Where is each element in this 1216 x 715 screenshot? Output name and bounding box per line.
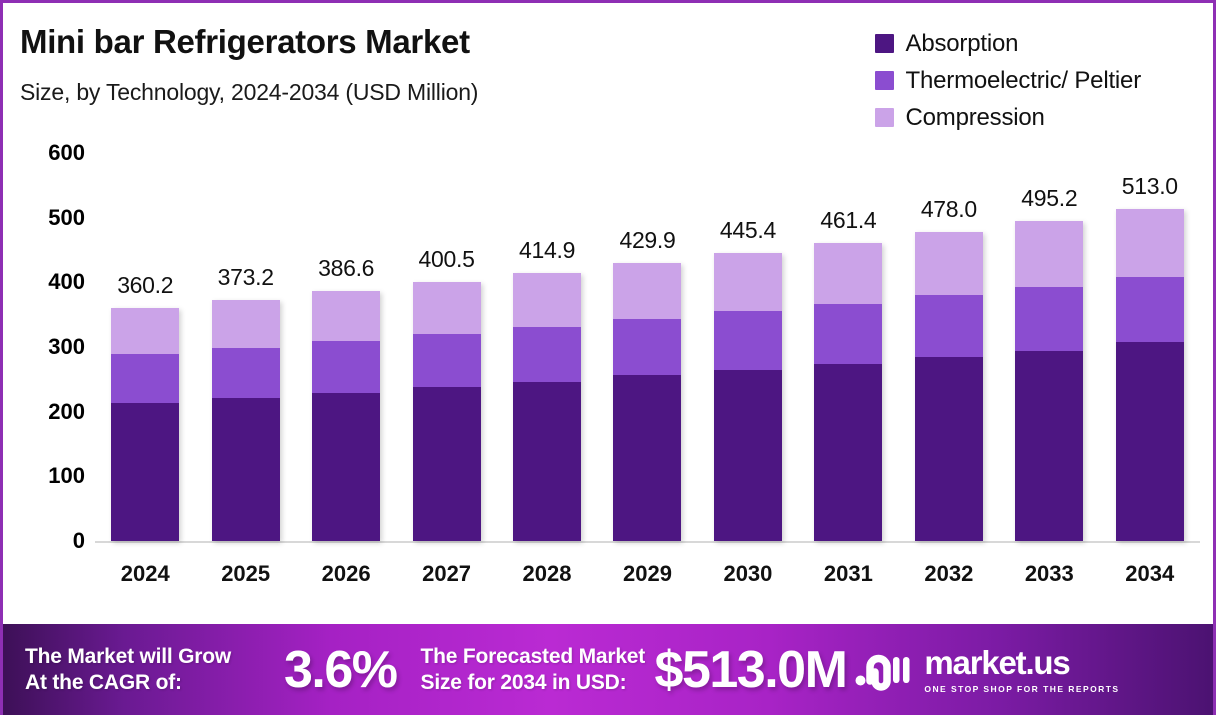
bar-segment-thermoelectric-peltier[interactable] xyxy=(714,311,782,370)
x-axis-tick-label: 2024 xyxy=(111,561,179,587)
bar-total-label: 386.6 xyxy=(318,255,374,282)
y-axis-tick-label: 400 xyxy=(48,269,85,295)
bar-total-label: 360.2 xyxy=(117,272,173,299)
x-axis-tick-label: 2032 xyxy=(915,561,983,587)
bar-total-label: 478.0 xyxy=(921,196,977,223)
bar-segment-absorption[interactable] xyxy=(513,382,581,541)
x-axis-tick-label: 2033 xyxy=(1015,561,1083,587)
bar-total-label: 513.0 xyxy=(1122,173,1178,200)
bar-segment-compression[interactable] xyxy=(915,232,983,295)
chart-legend: AbsorptionThermoelectric/ PeltierCompres… xyxy=(875,30,1141,141)
x-axis: 2024202520262027202820292030203120322033… xyxy=(95,551,1200,596)
bar-segment-compression[interactable] xyxy=(111,308,179,354)
x-axis-tick-label: 2030 xyxy=(714,561,782,587)
bar-segment-compression[interactable] xyxy=(312,291,380,341)
infographic-poster: Mini bar Refrigerators Market Size, by T… xyxy=(0,0,1216,715)
bar-group[interactable]: 386.6 xyxy=(312,153,380,541)
y-axis-tick-label: 300 xyxy=(48,334,85,360)
x-axis-tick-label: 2026 xyxy=(312,561,380,587)
stacked-bar[interactable] xyxy=(714,253,782,541)
forecast-label-line1: The Forecasted Market xyxy=(421,644,649,670)
stacked-bar[interactable] xyxy=(814,243,882,541)
bar-segment-thermoelectric-peltier[interactable] xyxy=(413,334,481,386)
bar-group[interactable]: 400.5 xyxy=(413,153,481,541)
bar-segment-thermoelectric-peltier[interactable] xyxy=(212,348,280,398)
legend-item-label: Compression xyxy=(906,104,1045,132)
legend-item[interactable]: Thermoelectric/ Peltier xyxy=(875,67,1141,94)
forecast-value: $513.0M xyxy=(655,640,847,700)
bar-segment-absorption[interactable] xyxy=(212,398,280,541)
brand-text: market.us ONE STOP SHOP FOR THE REPORTS xyxy=(924,646,1119,694)
legend-swatch-icon xyxy=(875,108,894,127)
x-axis-tick-label: 2029 xyxy=(613,561,681,587)
stacked-bar[interactable] xyxy=(312,291,380,541)
page-title: Mini bar Refrigerators Market xyxy=(20,23,470,61)
bar-segment-absorption[interactable] xyxy=(111,403,179,541)
stacked-bar[interactable] xyxy=(212,300,280,541)
bar-segment-thermoelectric-peltier[interactable] xyxy=(814,304,882,365)
bar-group[interactable]: 373.2 xyxy=(212,153,280,541)
page-subtitle: Size, by Technology, 2024-2034 (USD Mill… xyxy=(20,79,478,106)
y-axis: 6005004003002001000 xyxy=(3,153,95,541)
brand-tagline: ONE STOP SHOP FOR THE REPORTS xyxy=(924,684,1119,694)
brand-name: market.us xyxy=(924,646,1119,679)
cagr-label-line1: The Market will Grow xyxy=(25,644,280,670)
bar-segment-absorption[interactable] xyxy=(714,370,782,541)
bar-total-label: 400.5 xyxy=(419,246,475,273)
bar-segment-thermoelectric-peltier[interactable] xyxy=(513,327,581,381)
bar-total-label: 373.2 xyxy=(218,264,274,291)
chart-plot-area: 6005004003002001000 360.2373.2386.6400.5… xyxy=(3,153,1216,608)
y-axis-tick-label: 600 xyxy=(48,140,85,166)
bar-total-label: 414.9 xyxy=(519,237,575,264)
bar-segment-thermoelectric-peltier[interactable] xyxy=(915,295,983,357)
stacked-bar[interactable] xyxy=(111,308,179,541)
bar-group[interactable]: 360.2 xyxy=(111,153,179,541)
bar-total-label: 445.4 xyxy=(720,217,776,244)
x-axis-line xyxy=(95,541,1200,543)
stacked-bar[interactable] xyxy=(413,282,481,541)
bar-segment-thermoelectric-peltier[interactable] xyxy=(1116,277,1184,343)
bar-segment-compression[interactable] xyxy=(1116,209,1184,276)
x-axis-tick-label: 2031 xyxy=(814,561,882,587)
y-axis-tick-label: 500 xyxy=(48,205,85,231)
x-axis-tick-label: 2028 xyxy=(513,561,581,587)
x-axis-tick-label: 2034 xyxy=(1116,561,1184,587)
legend-item[interactable]: Compression xyxy=(875,104,1141,131)
bar-segment-absorption[interactable] xyxy=(312,393,380,541)
bar-segment-absorption[interactable] xyxy=(1015,351,1083,541)
bar-segment-absorption[interactable] xyxy=(413,387,481,541)
brand-logo: market.us ONE STOP SHOP FOR THE REPORTS xyxy=(854,646,1119,694)
x-axis-tick-label: 2025 xyxy=(212,561,280,587)
legend-item-label: Absorption xyxy=(906,30,1019,58)
x-axis-tick-label: 2027 xyxy=(413,561,481,587)
stacked-bar[interactable] xyxy=(1116,209,1184,541)
bar-segment-thermoelectric-peltier[interactable] xyxy=(613,319,681,376)
bar-segment-thermoelectric-peltier[interactable] xyxy=(111,354,179,403)
bar-segment-absorption[interactable] xyxy=(915,357,983,541)
y-axis-tick-label: 200 xyxy=(48,399,85,425)
stacked-bar[interactable] xyxy=(513,273,581,541)
y-axis-tick-label: 0 xyxy=(73,528,85,554)
bar-segment-thermoelectric-peltier[interactable] xyxy=(312,341,380,393)
legend-item[interactable]: Absorption xyxy=(875,30,1141,57)
bar-segment-compression[interactable] xyxy=(1015,221,1083,287)
bar-group[interactable]: 513.0 xyxy=(1116,153,1184,541)
bar-segment-absorption[interactable] xyxy=(1116,342,1184,541)
cagr-label: The Market will Grow At the CAGR of: xyxy=(25,644,280,695)
bar-group[interactable]: 461.4 xyxy=(814,153,882,541)
forecast-label-line2: Size for 2034 in USD: xyxy=(421,670,649,696)
bar-group[interactable]: 495.2 xyxy=(1015,153,1083,541)
bar-segment-thermoelectric-peltier[interactable] xyxy=(1015,287,1083,351)
market-us-logo-icon xyxy=(854,647,910,693)
forecast-label: The Forecasted Market Size for 2034 in U… xyxy=(421,644,649,695)
stacked-bar[interactable] xyxy=(1015,221,1083,541)
cagr-label-line2: At the CAGR of: xyxy=(25,670,280,696)
footer-banner: The Market will Grow At the CAGR of: 3.6… xyxy=(3,624,1216,715)
stacked-bar[interactable] xyxy=(915,232,983,541)
bar-total-label: 461.4 xyxy=(820,207,876,234)
bar-segment-absorption[interactable] xyxy=(814,364,882,541)
y-axis-tick-label: 100 xyxy=(48,463,85,489)
bar-group[interactable]: 478.0 xyxy=(915,153,983,541)
bar-group[interactable]: 445.4 xyxy=(714,153,782,541)
bar-group[interactable]: 414.9 xyxy=(513,153,581,541)
bar-segment-compression[interactable] xyxy=(413,282,481,334)
bar-segment-compression[interactable] xyxy=(513,273,581,328)
bar-group[interactable]: 429.9 xyxy=(613,153,681,541)
cagr-value: 3.6% xyxy=(284,640,397,700)
legend-swatch-icon xyxy=(875,34,894,53)
bar-segment-compression[interactable] xyxy=(714,253,782,311)
bar-total-label: 495.2 xyxy=(1021,185,1077,212)
bar-segment-compression[interactable] xyxy=(814,243,882,304)
bar-segment-compression[interactable] xyxy=(613,263,681,319)
stacked-bar[interactable] xyxy=(613,263,681,541)
bar-series-container: 360.2373.2386.6400.5414.9429.9445.4461.4… xyxy=(95,153,1200,541)
bar-segment-compression[interactable] xyxy=(212,300,280,348)
bar-segment-absorption[interactable] xyxy=(613,375,681,541)
bar-total-label: 429.9 xyxy=(619,227,675,254)
legend-swatch-icon xyxy=(875,71,894,90)
legend-item-label: Thermoelectric/ Peltier xyxy=(906,67,1141,95)
